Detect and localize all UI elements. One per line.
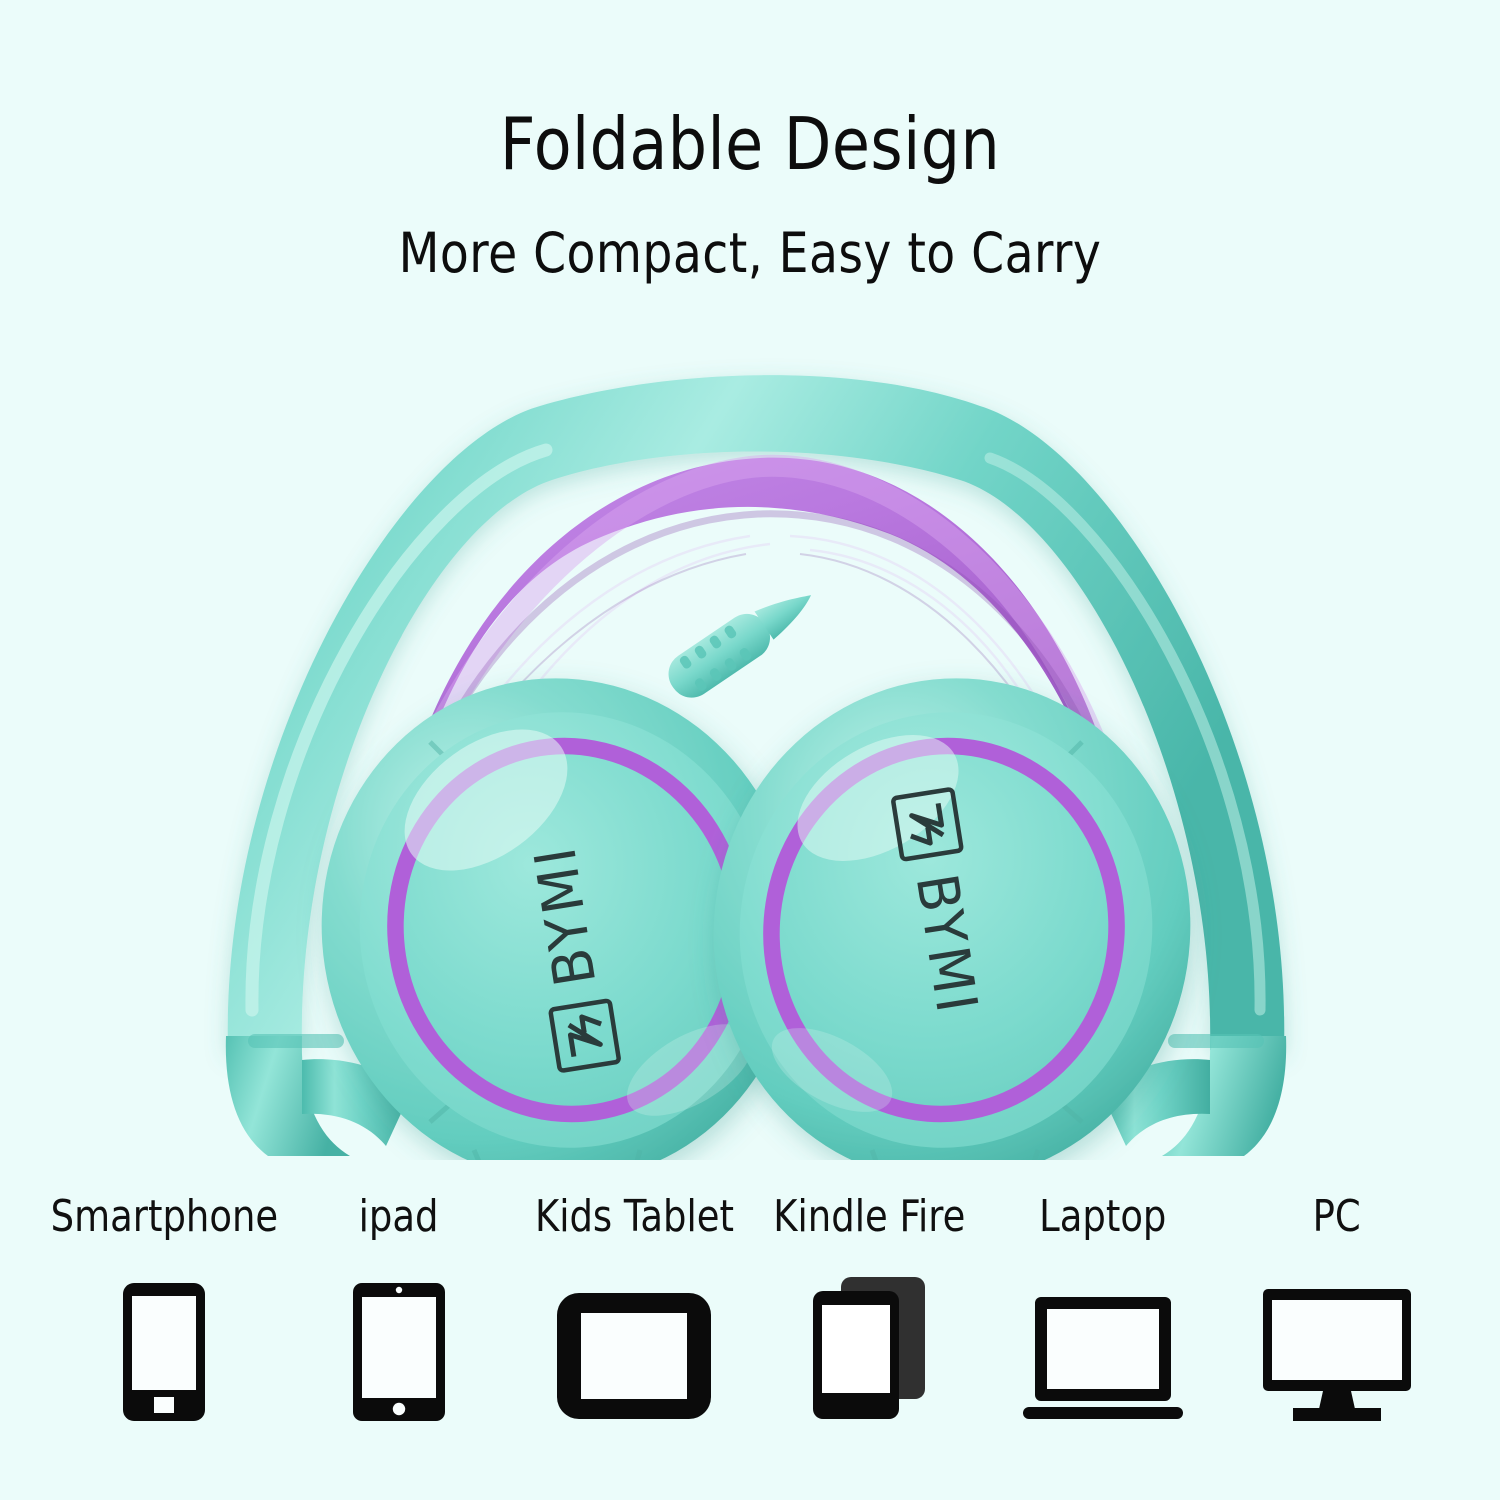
device-label-laptop: Laptop <box>1039 1195 1166 1239</box>
device-label-ipad: ipad <box>359 1195 439 1239</box>
headline-block: Foldable Design More Compact, Easy to Ca… <box>0 0 1500 281</box>
page-title: Foldable Design <box>105 0 1395 180</box>
laptop-icon <box>1021 1273 1185 1423</box>
product-image-foldable-headphones: BYMI <box>190 350 1320 1160</box>
device-item-pc: PC <box>1220 1195 1454 1423</box>
device-label-kindle-fire: Kindle Fire <box>773 1195 965 1239</box>
device-item-kindle-fire: Kindle Fire <box>752 1195 986 1423</box>
product-feature-banner: Foldable Design More Compact, Easy to Ca… <box>0 0 1500 1500</box>
device-item-kids-tablet: Kids Tablet <box>516 1195 752 1423</box>
kids-tablet-icon <box>555 1273 713 1423</box>
device-item-ipad: ipad <box>282 1195 516 1423</box>
device-label-kids-tablet: Kids Tablet <box>534 1195 733 1239</box>
kindle-fire-icon <box>809 1273 929 1423</box>
device-label-smartphone: Smartphone <box>50 1195 277 1239</box>
device-item-laptop: Laptop <box>986 1195 1220 1423</box>
compatible-devices-row: Smartphone ipad <box>0 1195 1500 1455</box>
pc-monitor-icon <box>1259 1273 1415 1423</box>
smartphone-icon <box>121 1273 207 1423</box>
device-label-pc: PC <box>1313 1195 1361 1239</box>
device-item-smartphone: Smartphone <box>46 1195 282 1423</box>
ipad-icon <box>351 1273 447 1423</box>
page-subtitle: More Compact, Easy to Carry <box>105 180 1395 281</box>
